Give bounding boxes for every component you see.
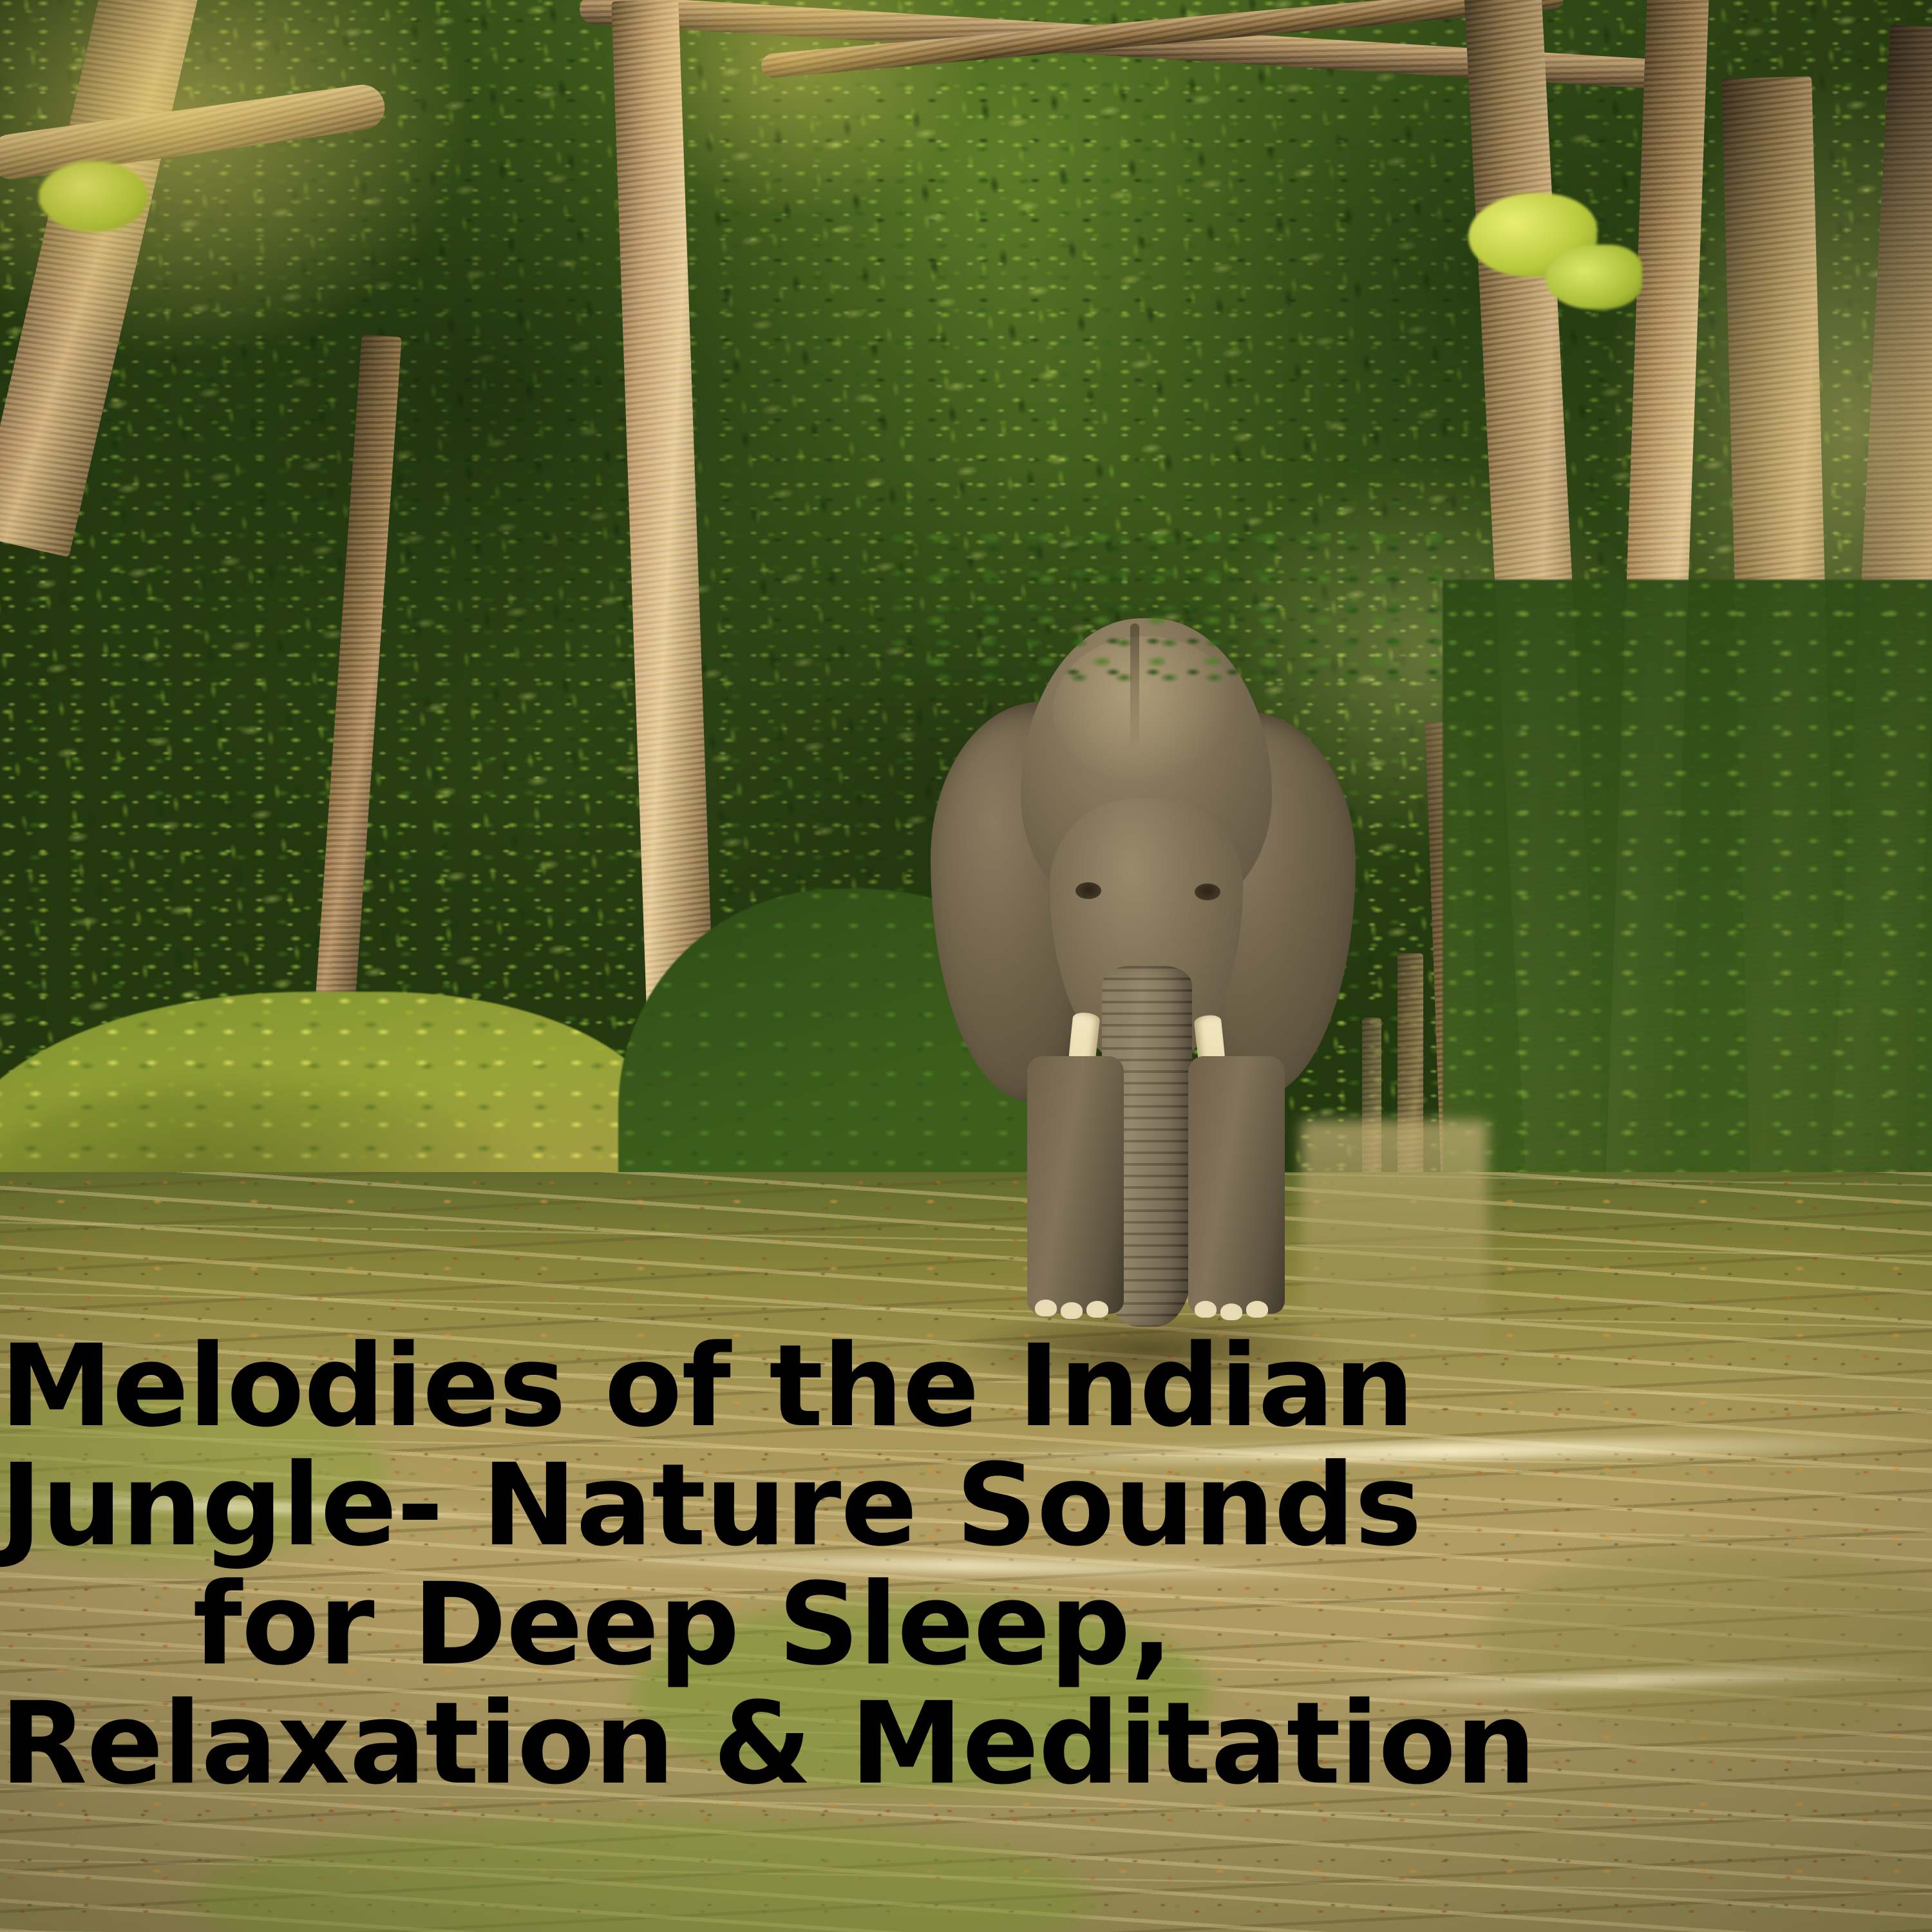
album-cover: Melodies of the Indian Jungle- Nature So…: [0, 0, 1932, 1932]
title-line-3: for Deep Sleep,: [0, 1565, 1365, 1684]
title-line-2: Jungle- Nature Sounds: [0, 1446, 1365, 1565]
title-line-1: Melodies of the Indian: [0, 1327, 1365, 1446]
title-line-4: Relaxation & Meditation: [0, 1684, 1365, 1803]
album-title: Melodies of the Indian Jungle- Nature So…: [0, 1327, 1365, 1803]
